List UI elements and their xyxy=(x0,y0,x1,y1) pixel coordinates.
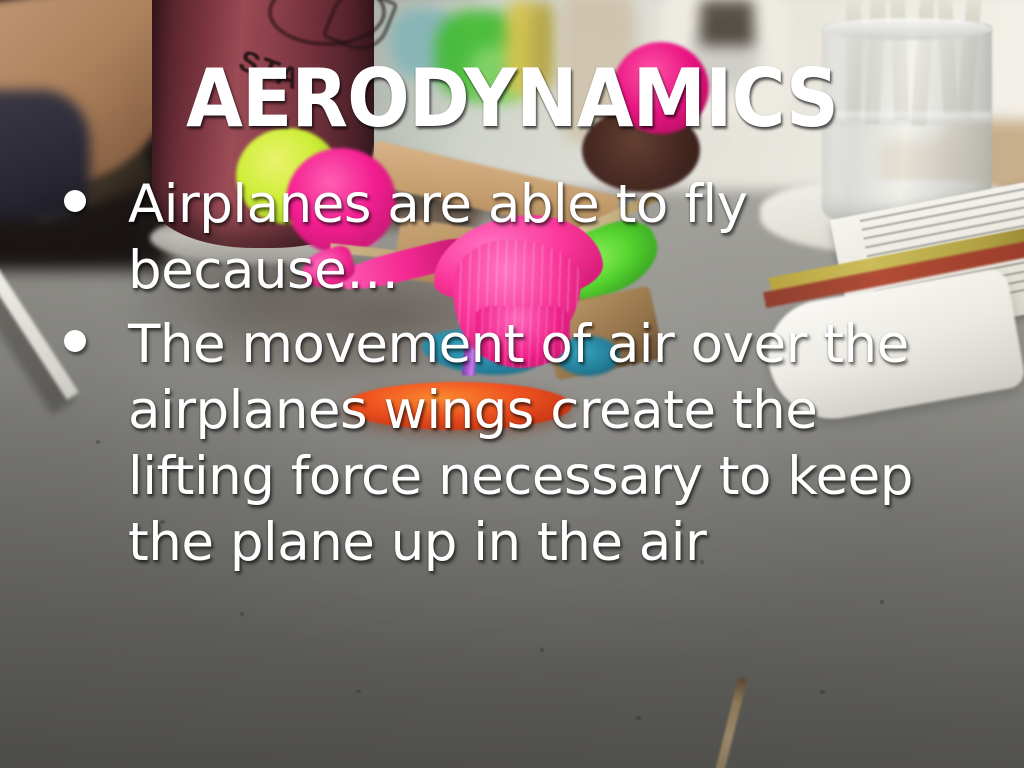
slide-text-layer: AERODYNAMICS Airplanes are able to fly b… xyxy=(0,0,1024,768)
bullet-text: The movement of air over the airplanes w… xyxy=(128,312,956,576)
bullet-text: Airplanes are able to fly because… xyxy=(128,172,956,304)
bullet-dot-icon xyxy=(64,330,86,352)
slide: STA AERODYNAMICS xyxy=(0,0,1024,768)
list-item: The movement of air over the airplanes w… xyxy=(56,312,956,576)
page-title: AERODYNAMICS xyxy=(41,56,983,142)
bullet-list: Airplanes are able to fly because… The m… xyxy=(56,172,956,584)
list-item: Airplanes are able to fly because… xyxy=(56,172,956,304)
bullet-dot-icon xyxy=(64,190,86,212)
